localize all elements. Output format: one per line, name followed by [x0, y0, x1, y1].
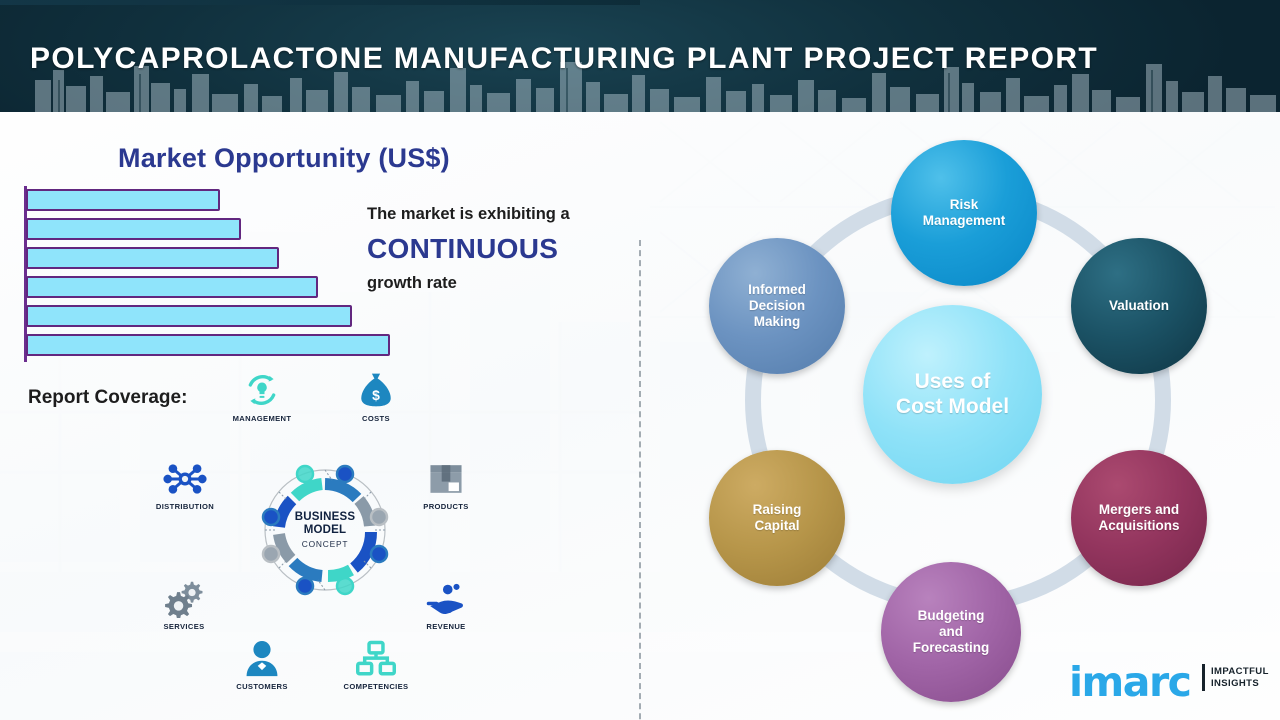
person-user-icon: [214, 632, 310, 678]
coverage-item-revenue[interactable]: REVENUE: [398, 572, 494, 631]
coverage-item-customers[interactable]: CUSTOMERS: [214, 632, 310, 691]
node-raising-line-1: Raising: [747, 502, 808, 518]
growth-emphasis: CONTINUOUS: [367, 235, 629, 263]
logo-tagline-1: IMPACTFUL: [1211, 666, 1269, 677]
growth-line-2: growth rate: [367, 274, 629, 293]
report-coverage-diagram: MANAGEMENT $ COSTS: [150, 364, 500, 714]
coverage-label-competencies: COMPETENCIES: [328, 682, 424, 691]
refresh-lightbulb-icon: [214, 364, 310, 410]
gears-icon: [136, 572, 232, 618]
imarc-logo[interactable]: imarc IMPACTFUL INSIGHTS: [1069, 652, 1269, 708]
coverage-item-management[interactable]: MANAGEMENT: [214, 364, 310, 423]
node-informed-line-1: Informed: [742, 282, 812, 298]
node-raising-line-2: Capital: [747, 518, 808, 534]
coverage-item-distribution[interactable]: DISTRIBUTION: [137, 452, 233, 511]
coverage-item-services[interactable]: SERVICES: [136, 572, 232, 631]
box-package-icon: [398, 452, 494, 498]
node-valuation-line-1: Valuation: [1103, 298, 1175, 314]
logo-divider-bar: [1202, 664, 1205, 691]
coverage-item-competencies[interactable]: COMPETENCIES: [328, 632, 424, 691]
bar-3: [26, 247, 279, 269]
svg-text:$: $: [372, 387, 380, 403]
node-informed-decision-making[interactable]: Informed Decision Making: [709, 238, 845, 374]
business-model-wheel: BUSINESS MODEL CONCEPT: [259, 464, 391, 596]
left-panel: Market Opportunity (US$) The market is e…: [0, 112, 639, 720]
coverage-label-services: SERVICES: [136, 622, 232, 631]
slide-canvas: POLYCAPROLACTONE MANUFACTURING PLANT PRO…: [0, 0, 1280, 720]
node-budgeting-and-forecasting[interactable]: Budgeting and Forecasting: [881, 562, 1021, 702]
market-opportunity-bar-chart: [24, 186, 424, 362]
node-budget-line-2: and: [907, 624, 996, 640]
growth-statement: The market is exhibiting a CONTINUOUS gr…: [367, 204, 629, 293]
org-chart-icon: [328, 632, 424, 678]
coverage-label-customers: CUSTOMERS: [214, 682, 310, 691]
node-mergers-line-2: Acquisitions: [1092, 518, 1185, 534]
logo-wordmark: imarc: [1069, 658, 1190, 706]
coverage-label-costs: COSTS: [328, 414, 424, 423]
bar-6: [26, 334, 390, 356]
node-budget-line-1: Budgeting: [907, 608, 996, 624]
node-uses-of-cost-model[interactable]: Uses of Cost Model: [863, 305, 1042, 484]
node-mergers-line-1: Mergers and: [1092, 502, 1185, 518]
network-nodes-icon: [137, 452, 233, 498]
slide-body: Market Opportunity (US$) The market is e…: [0, 112, 1280, 720]
bar-5: [26, 305, 352, 327]
coverage-item-products[interactable]: PRODUCTS: [398, 452, 494, 511]
center-line-2: Cost Model: [890, 395, 1015, 420]
logo-tagline-2: INSIGHTS: [1211, 678, 1259, 689]
coverage-label-management: MANAGEMENT: [214, 414, 310, 423]
right-panel: Uses of Cost Model Risk Management Valua…: [639, 112, 1280, 720]
node-valuation[interactable]: Valuation: [1071, 238, 1207, 374]
node-mergers-and-acquisitions[interactable]: Mergers and Acquisitions: [1071, 450, 1207, 586]
bar-4: [26, 276, 318, 298]
header-top-strip: [0, 0, 640, 5]
bar-2: [26, 218, 241, 240]
coverage-item-costs[interactable]: $ COSTS: [328, 364, 424, 423]
node-raising-capital[interactable]: Raising Capital: [709, 450, 845, 586]
node-informed-line-3: Making: [742, 314, 812, 330]
page-title: POLYCAPROLACTONE MANUFACTURING PLANT PRO…: [30, 42, 1098, 76]
node-budget-line-3: Forecasting: [907, 640, 996, 656]
header-banner: POLYCAPROLACTONE MANUFACTURING PLANT PRO…: [0, 0, 1280, 112]
coverage-label-revenue: REVENUE: [398, 622, 494, 631]
hand-coins-icon: [398, 572, 494, 618]
coverage-label-distribution: DISTRIBUTION: [137, 502, 233, 511]
market-opportunity-title: Market Opportunity (US$): [118, 143, 450, 174]
growth-line-1: The market is exhibiting a: [367, 204, 629, 225]
node-risk-management[interactable]: Risk Management: [891, 140, 1037, 286]
bar-1: [26, 189, 220, 211]
node-risk-line-2: Management: [917, 213, 1012, 229]
money-bag-icon: $: [328, 364, 424, 410]
node-risk-line-1: Risk: [917, 197, 1012, 213]
coverage-label-products: PRODUCTS: [398, 502, 494, 511]
center-line-1: Uses of: [890, 370, 1015, 395]
node-informed-line-2: Decision: [742, 298, 812, 314]
